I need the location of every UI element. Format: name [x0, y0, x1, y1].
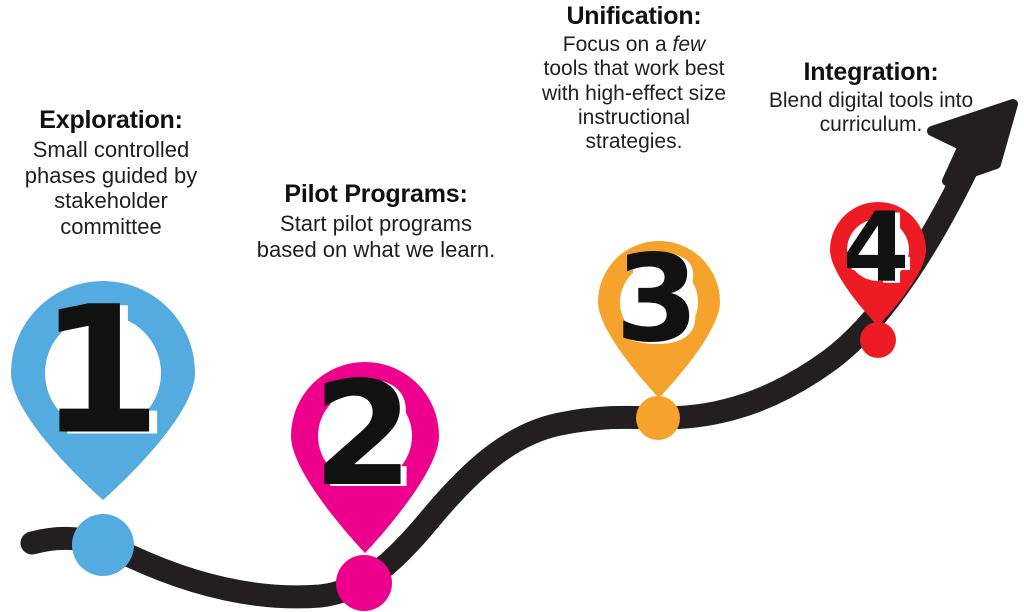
step-body-3-suffix: tools that work best with high-effect si… [542, 57, 726, 153]
step-body-3: Focus on a few tools that work best with… [540, 33, 728, 155]
path-node-1[interactable] [72, 514, 134, 576]
step-caption-2: Pilot Programs: Start pilot programs bas… [252, 180, 500, 262]
step-title-3: Unification: [540, 2, 728, 31]
step-caption-1: Exploration: Small controlled phases gui… [2, 106, 220, 239]
step-body-3-prefix: Focus on a [563, 33, 673, 56]
infographic-canvas: 1 1 2 2 3 3 [0, 0, 1024, 612]
pin-number-2: 2 [313, 350, 413, 518]
step-body-2: Start pilot programs based on what we le… [252, 211, 500, 262]
step-title-4: Integration: [766, 58, 976, 87]
step-body-1: Small controlled phases guided by stakeh… [2, 137, 220, 239]
step-marker-2[interactable]: 2 2 [291, 350, 439, 611]
step-body-3-emphasis: few [673, 33, 706, 56]
path-node-2[interactable] [336, 555, 392, 611]
step-body-4: Blend digital tools into curriculum. [766, 89, 976, 138]
path-node-4[interactable] [860, 322, 896, 358]
pin-number-4: 4 [843, 192, 910, 304]
step-caption-4: Integration: Blend digital tools into cu… [766, 58, 976, 138]
step-title-1: Exploration: [2, 106, 220, 135]
path-node-3[interactable] [636, 396, 680, 440]
step-title-2: Pilot Programs: [252, 180, 500, 209]
step-caption-3: Unification: Focus on a few tools that w… [540, 2, 728, 155]
pin-number-3: 3 [615, 231, 699, 370]
pin-number-1: 1 [39, 269, 161, 474]
